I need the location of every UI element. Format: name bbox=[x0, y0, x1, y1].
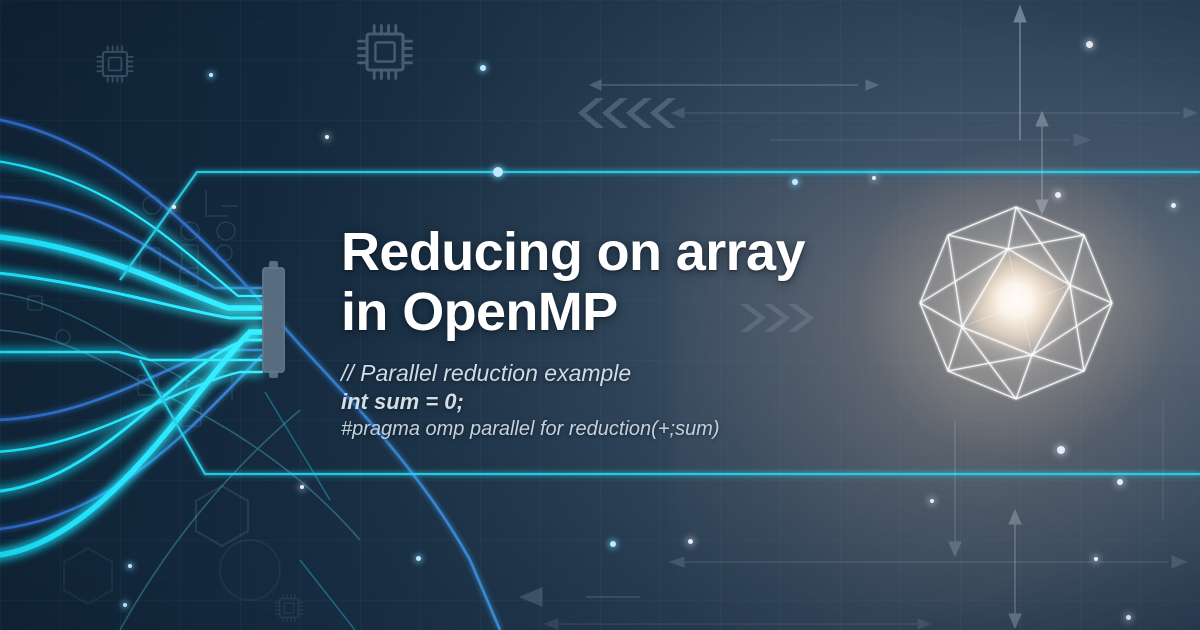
cover-text-block: Reducing on array in OpenMP // Parallel … bbox=[341, 222, 901, 442]
code-pragma-line: #pragma omp parallel for reduction(+;sum… bbox=[341, 417, 901, 443]
code-statement-line: int sum = 0; bbox=[341, 388, 901, 416]
code-snippet: // Parallel reduction example int sum = … bbox=[341, 359, 901, 442]
page-title: Reducing on array in OpenMP bbox=[341, 222, 901, 343]
cover-image: Reducing on array in OpenMP // Parallel … bbox=[0, 0, 1200, 630]
code-comment-line: // Parallel reduction example bbox=[341, 359, 901, 388]
